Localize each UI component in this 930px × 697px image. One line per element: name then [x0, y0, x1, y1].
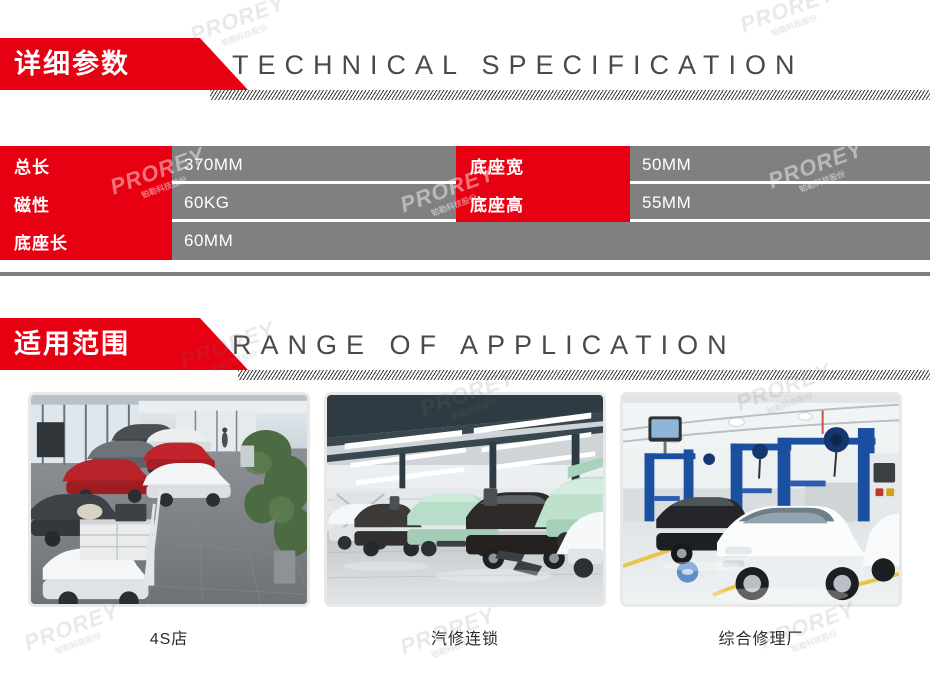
showroom-illustration [31, 395, 307, 604]
banner-stripe-band [210, 90, 930, 100]
banner-chinese-title: 适用范围 [14, 318, 130, 370]
specification-table: 总长 370MM 底座宽 50MM 磁性 60KG 底座高 55MM 底座长 6… [0, 146, 930, 260]
photo-auto-body-repair-shop[interactable] [324, 392, 606, 607]
gallery-caption: 综合修理厂 [620, 625, 902, 649]
photo-vehicle-service-bay[interactable] [620, 392, 902, 607]
spec-value-cell: 55MM [630, 184, 930, 222]
section-banner-technical-specification: 详细参数 TECHNICAL SPECIFICATION [0, 38, 930, 100]
gallery-item[interactable]: 汽修连锁 [324, 392, 606, 649]
spec-label-cell: 底座高 [456, 184, 630, 222]
banner-chinese-title: 详细参数 [14, 38, 130, 90]
service-bay-illustration [623, 395, 899, 604]
table-row: 磁性 60KG 底座高 55MM [0, 184, 930, 222]
gallery-item[interactable]: 综合修理厂 [620, 392, 902, 649]
table-footer-strip [0, 269, 930, 276]
body-shop-illustration [327, 395, 603, 604]
table-row: 总长 370MM 底座宽 50MM [0, 146, 930, 184]
gallery-item[interactable]: 4S店 [28, 392, 310, 649]
spec-label-cell: 底座宽 [456, 146, 630, 184]
spec-value-cell: 50MM [630, 146, 930, 184]
table-row: 底座长 60MM [0, 222, 930, 260]
spec-label-cell: 磁性 [0, 184, 172, 222]
spec-value-cell: 60MM [172, 222, 456, 260]
gallery-caption: 4S店 [28, 625, 310, 649]
spec-label-cell: 底座长 [0, 222, 172, 260]
banner-english-title: RANGE OF APPLICATION [232, 318, 736, 370]
spec-empty-cell [456, 222, 930, 260]
photo-dealership-showroom[interactable] [28, 392, 310, 607]
banner-english-title: TECHNICAL SPECIFICATION [232, 38, 804, 90]
spec-value-cell: 370MM [172, 146, 456, 184]
spec-label-cell: 总长 [0, 146, 172, 184]
application-gallery: 4S店 [28, 392, 904, 649]
watermark-brand: PROREY [737, 0, 839, 37]
banner-stripe-band [238, 370, 930, 380]
spec-value-cell: 60KG [172, 184, 456, 222]
gallery-caption: 汽修连锁 [324, 625, 606, 649]
watermark-sub: 铂勒科技股份 [770, 4, 842, 39]
section-banner-range-of-application: 适用范围 RANGE OF APPLICATION [0, 318, 930, 380]
